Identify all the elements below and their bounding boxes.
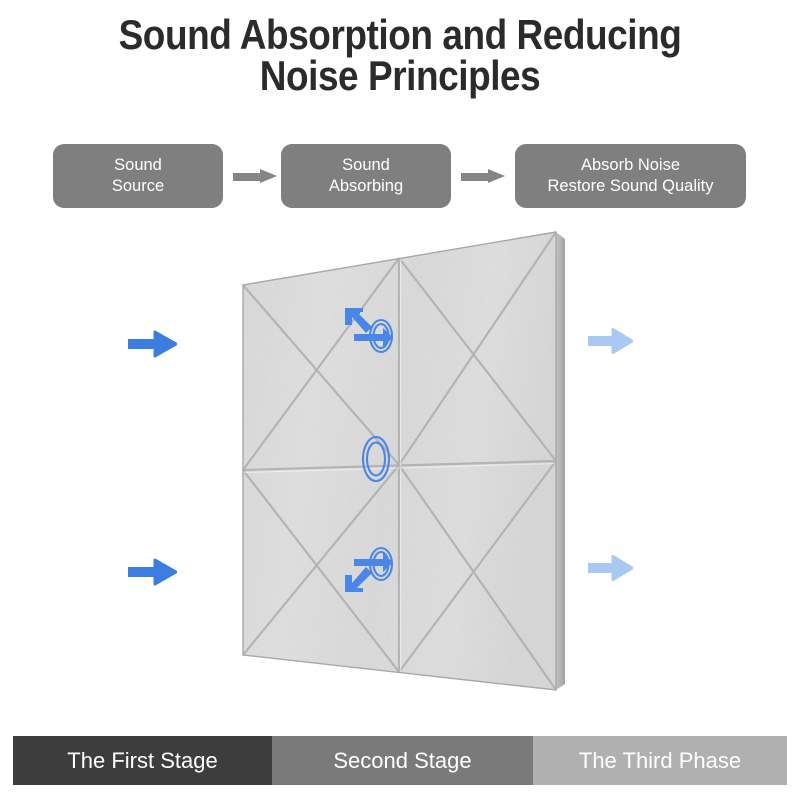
stage-label-second: Second Stage bbox=[333, 748, 471, 774]
flow-box-sound-source-line-1: Sound bbox=[114, 155, 162, 176]
panel-side-edge bbox=[556, 232, 565, 690]
page-title: Sound Absorption and Reducing Noise Prin… bbox=[0, 14, 800, 96]
flow-box-sound-absorbing: Sound Absorbing bbox=[281, 144, 451, 208]
stage-progress-bar: The First Stage Second Stage The Third P… bbox=[13, 736, 787, 785]
incoming-sound-right-arrow-icon-top bbox=[128, 328, 177, 360]
stage-segment-first[interactable]: The First Stage bbox=[13, 736, 272, 785]
flow-box-sound-source-line-2: Source bbox=[112, 176, 164, 197]
absorb-arrow-into-rings-icon-top bbox=[336, 303, 398, 361]
flow-box-absorb-noise-line-1: Absorb Noise bbox=[581, 155, 680, 176]
arrow-shaft bbox=[461, 173, 488, 181]
flow-box-absorb-noise-line-2: Restore Sound Quality bbox=[547, 176, 713, 197]
flow-box-sound-source: Sound Source bbox=[53, 144, 223, 208]
incoming-sound-right-arrow-icon-bottom bbox=[128, 556, 177, 588]
page-title-line-2: Noise Principles bbox=[48, 55, 752, 96]
outgoing-sound-right-arrow-icon-top bbox=[588, 326, 633, 356]
stage-segment-second[interactable]: Second Stage bbox=[272, 736, 533, 785]
flow-box-absorb-noise: Absorb Noise Restore Sound Quality bbox=[515, 144, 746, 208]
flow-right-arrow-icon-2 bbox=[461, 169, 505, 184]
infographic-root: Sound Absorption and Reducing Noise Prin… bbox=[0, 0, 800, 800]
incoming-sound-waveform bbox=[0, 380, 248, 540]
stage-segment-third[interactable]: The Third Phase bbox=[533, 736, 787, 785]
page-title-line-1: Sound Absorption and Reducing bbox=[48, 14, 752, 55]
stage-label-third: The Third Phase bbox=[579, 748, 741, 774]
arrow-head bbox=[488, 169, 505, 183]
stage-label-first: The First Stage bbox=[67, 748, 217, 774]
absorb-rings-icon-middle bbox=[357, 428, 395, 490]
flow-right-arrow-icon-1 bbox=[233, 169, 277, 184]
arrow-shaft bbox=[233, 173, 260, 181]
outgoing-sound-right-arrow-icon-bottom bbox=[588, 553, 633, 583]
flow-box-sound-absorbing-line-2: Absorbing bbox=[329, 176, 403, 197]
process-flow-chart: Sound Source Sound Absorbing Absorb Nois… bbox=[0, 144, 800, 214]
absorb-arrow-into-rings-icon-bottom bbox=[336, 538, 398, 596]
outgoing-sound-waveform bbox=[556, 380, 800, 540]
acoustic-felt-panel bbox=[228, 222, 572, 702]
arrow-head bbox=[260, 169, 277, 183]
flow-box-sound-absorbing-line-1: Sound bbox=[342, 155, 390, 176]
